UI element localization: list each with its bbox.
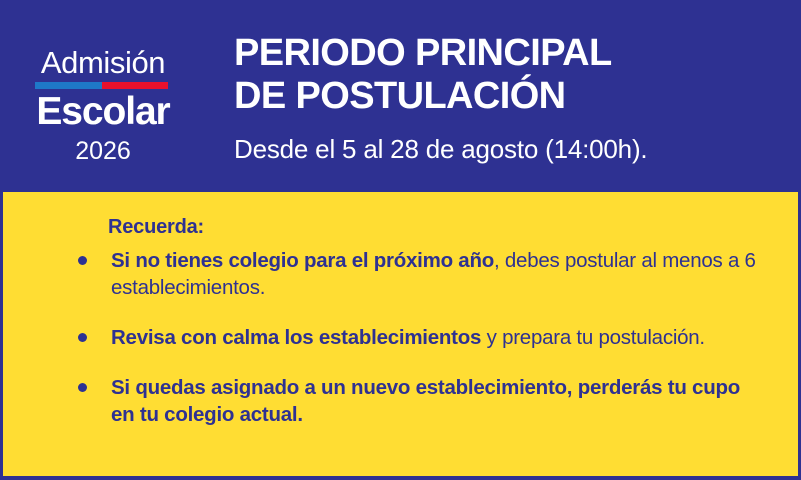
bullet-dot-icon xyxy=(78,333,87,342)
bullet-dot-icon xyxy=(78,383,87,392)
logo-word-escolar: Escolar xyxy=(33,92,173,133)
list-item: Si quedas asignado a un nuevo establecim… xyxy=(73,374,758,428)
list-item: Revisa con calma los establecimientos y … xyxy=(73,324,758,351)
headline-block: PERIODO PRINCIPAL DE POSTULACIÓN Desde e… xyxy=(234,32,779,165)
headline-line-2: DE POSTULACIÓN xyxy=(234,75,566,117)
reminder-list: Si no tienes colegio para el próximo año… xyxy=(73,247,758,428)
page-title: PERIODO PRINCIPAL DE POSTULACIÓN xyxy=(234,32,779,118)
flag-red-segment xyxy=(102,82,169,89)
admision-escolar-logo: Admisión Escolar 2026 xyxy=(33,47,173,164)
chile-flag-bar-icon xyxy=(35,82,168,89)
list-item-bold-text: Si quedas asignado a un nuevo establecim… xyxy=(111,376,740,426)
logo-year: 2026 xyxy=(33,139,173,164)
reminder-panel: Recuerda: Si no tienes colegio para el p… xyxy=(0,192,801,480)
list-item-bold-text: Si no tienes colegio para el próximo año xyxy=(111,249,494,272)
admission-period-banner: Admisión Escolar 2026 PERIODO PRINCIPAL … xyxy=(0,0,801,480)
list-item: Si no tienes colegio para el próximo año… xyxy=(73,247,758,301)
logo-word-admision: Admisión xyxy=(33,47,173,78)
headline-line-1: PERIODO PRINCIPAL xyxy=(234,32,612,74)
banner-header: Admisión Escolar 2026 PERIODO PRINCIPAL … xyxy=(0,0,801,192)
list-item-normal-text: y prepara tu postulación. xyxy=(481,326,705,349)
date-range-subtitle: Desde el 5 al 28 de agosto (14:00h). xyxy=(234,134,779,165)
list-item-bold-text: Revisa con calma los establecimientos xyxy=(111,326,481,349)
bullet-dot-icon xyxy=(78,256,87,265)
reminder-heading: Recuerda: xyxy=(108,217,204,237)
flag-blue-segment xyxy=(35,82,102,89)
